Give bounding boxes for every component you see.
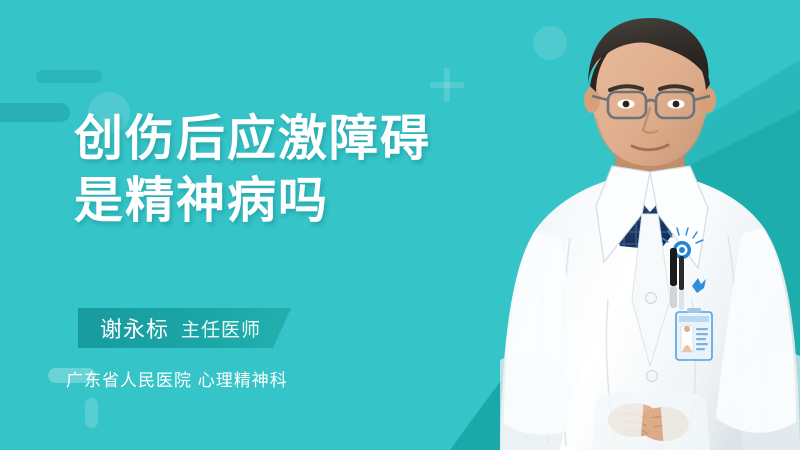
doctor-name-banner: 谢永标 主任医师 — [78, 308, 291, 348]
title-block: 创伤后应激障碍 是精神病吗 — [74, 108, 431, 232]
title-line-2: 是精神病吗 — [74, 170, 431, 232]
doctor-title: 主任医师 — [181, 315, 261, 342]
video-thumbnail: 创伤后应激障碍 是精神病吗 谢永标 主任医师 广东省人民医院 心理精神科 — [0, 0, 800, 450]
decorative-bar-bottom — [85, 398, 98, 428]
decorative-bar-left — [0, 103, 70, 122]
doctor-name: 谢永标 — [100, 312, 169, 344]
plus-cross-icon — [430, 68, 464, 102]
title-line-1: 创伤后应激障碍 — [74, 108, 431, 170]
doctor-affiliation: 广东省人民医院 心理精神科 — [66, 366, 288, 391]
decorative-bar-upper — [36, 70, 102, 83]
doctor-photo — [500, 0, 800, 450]
